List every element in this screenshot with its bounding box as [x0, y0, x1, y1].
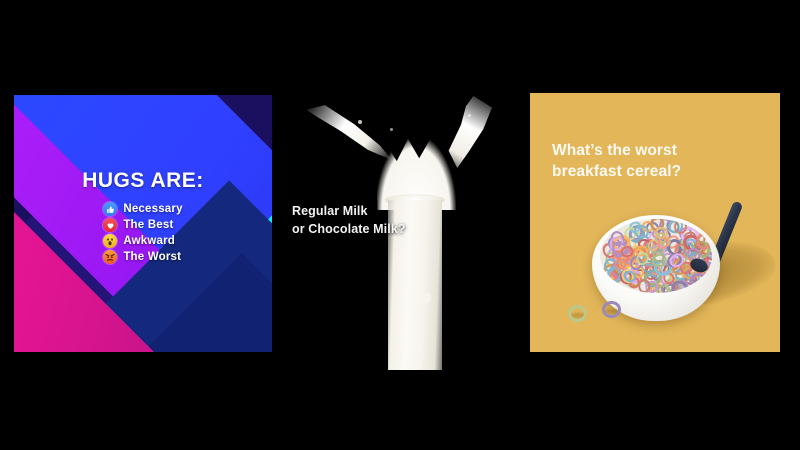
gallery-stage: HUGS ARE: Necessary The Best	[0, 0, 800, 450]
loose-cereal-loop	[602, 301, 621, 318]
list-item[interactable]: Awkward	[103, 234, 182, 248]
list-item-label: The Worst	[123, 251, 181, 263]
wow-face-icon	[103, 234, 117, 248]
list-item-label: Awkward	[123, 235, 175, 247]
milk-droplet	[419, 232, 424, 238]
milk-splash-left-arc	[306, 104, 392, 160]
list-item[interactable]: Necessary	[103, 202, 182, 216]
milk-caption-line-1: Regular Milk	[292, 202, 406, 220]
milk-droplet	[390, 128, 393, 131]
list-item-label: Necessary	[123, 203, 182, 215]
hugs-title: HUGS ARE:	[14, 169, 272, 193]
cereal-bowl-photo	[530, 93, 780, 352]
cereal-title-line-1: What’s the worst	[552, 141, 681, 162]
loose-cereal-loop	[568, 305, 587, 322]
hugs-content: HUGS ARE: Necessary The Best	[14, 169, 272, 268]
like-thumbs-up-icon	[103, 202, 117, 216]
panel-hugs-are[interactable]: HUGS ARE: Necessary The Best	[14, 95, 272, 352]
cereal-loop	[637, 279, 650, 293]
panel-milk-question[interactable]: Regular Milk or Chocolate Milk?	[272, 80, 530, 370]
milk-caption: Regular Milk or Chocolate Milk?	[292, 202, 406, 238]
list-item-label: The Best	[123, 219, 173, 231]
love-heart-icon	[103, 218, 117, 232]
angry-face-icon	[103, 250, 117, 264]
milk-droplet	[423, 292, 431, 303]
milk-droplet	[358, 120, 362, 124]
panel-cereal-question[interactable]: What’s the worst breakfast cereal?	[530, 93, 780, 352]
list-item[interactable]: The Worst	[103, 250, 182, 264]
hugs-reaction-list: Necessary The Best	[103, 200, 182, 266]
list-item[interactable]: The Best	[103, 218, 182, 232]
cereal-title: What’s the worst breakfast cereal?	[552, 141, 681, 183]
cereal-loops-container	[600, 219, 712, 293]
milk-droplet	[468, 114, 471, 117]
cereal-title-line-2: breakfast cereal?	[552, 162, 681, 183]
milk-caption-line-2: or Chocolate Milk?	[292, 220, 406, 238]
